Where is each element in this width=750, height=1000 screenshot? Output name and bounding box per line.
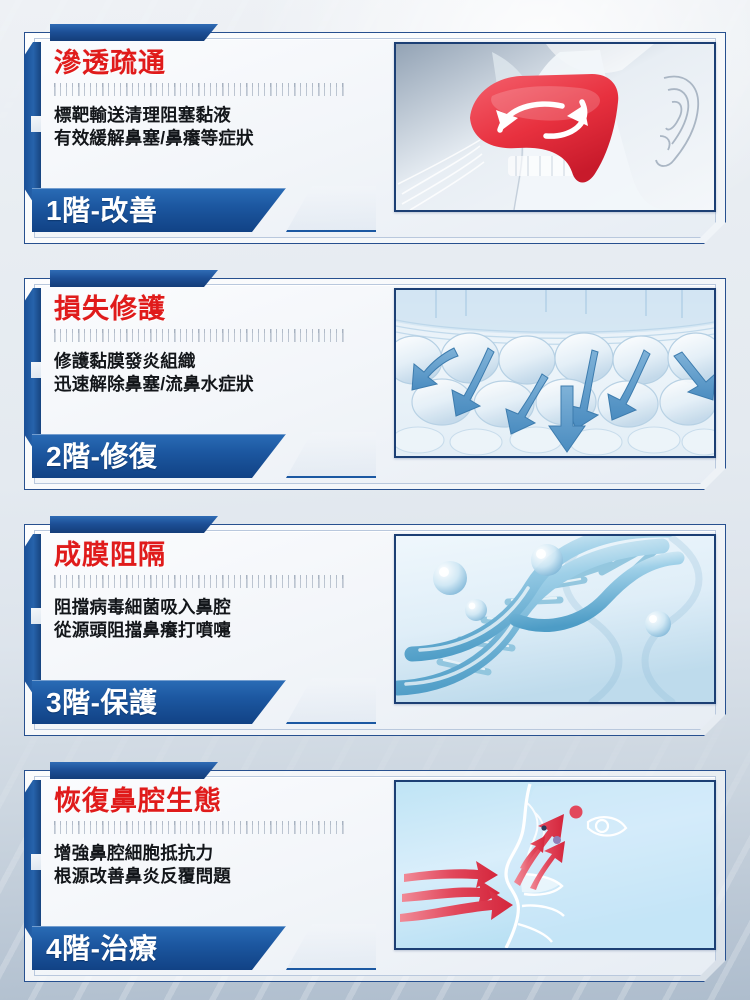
panel-left-rail (24, 42, 41, 202)
step-badge: 3階-保護 (32, 680, 286, 724)
stage-panel-list: 滲透疏通 標靶輸送清理阻塞黏液 有效緩解鼻塞/鼻癢等症狀 1階-改善 (0, 0, 750, 1000)
panel-left-rail (24, 780, 41, 940)
step-badge-label: 2階-修復 (46, 435, 157, 475)
panel-illustration-4 (394, 780, 716, 950)
step-badge-label: 1階-改善 (46, 189, 157, 229)
step-badge-label: 4階-治療 (46, 927, 157, 967)
panel-top-tab (50, 516, 218, 533)
ruler-divider-icon (54, 821, 344, 834)
ruler-divider-icon (54, 83, 344, 96)
panel-illustration-2 (394, 288, 716, 458)
cell-tissue-blue-arrows-icon (396, 290, 714, 456)
stage-panel-3[interactable]: 成膜阻隔 阻擋病毒細菌吸入鼻腔 從源頭阻擋鼻癢打噴嚏 3階-保護 (24, 516, 726, 728)
step-badge: 1階-改善 (32, 188, 286, 232)
throat-mucosa-red-arrows-icon (396, 44, 714, 210)
stage-panel-1[interactable]: 滲透疏通 標靶輸送清理阻塞黏液 有效緩解鼻塞/鼻癢等症狀 1階-改善 (24, 24, 726, 236)
step-badge-label: 3階-保護 (46, 681, 157, 721)
face-profile-airflow-icon (396, 782, 714, 948)
panel-top-tab (50, 24, 218, 41)
step-badge: 2階-修復 (32, 434, 286, 478)
panel-top-tab (50, 762, 218, 779)
panel-illustration-3 (394, 534, 716, 704)
ruler-divider-icon (54, 329, 344, 342)
panel-top-tab (50, 270, 218, 287)
stage-panel-4[interactable]: 恢復鼻腔生態 增強鼻腔細胞抵抗力 根源改善鼻炎反覆問題 4階-治療 (24, 762, 726, 974)
panel-illustration-1 (394, 42, 716, 212)
step-badge: 4階-治療 (32, 926, 286, 970)
panel-left-rail (24, 534, 41, 694)
dna-double-helix-icon (396, 536, 714, 702)
stage-panel-2[interactable]: 損失修護 修護黏膜發炎組織 迅速解除鼻塞/流鼻水症狀 2階-修復 (24, 270, 726, 482)
panel-left-rail (24, 288, 41, 448)
ruler-divider-icon (54, 575, 344, 588)
